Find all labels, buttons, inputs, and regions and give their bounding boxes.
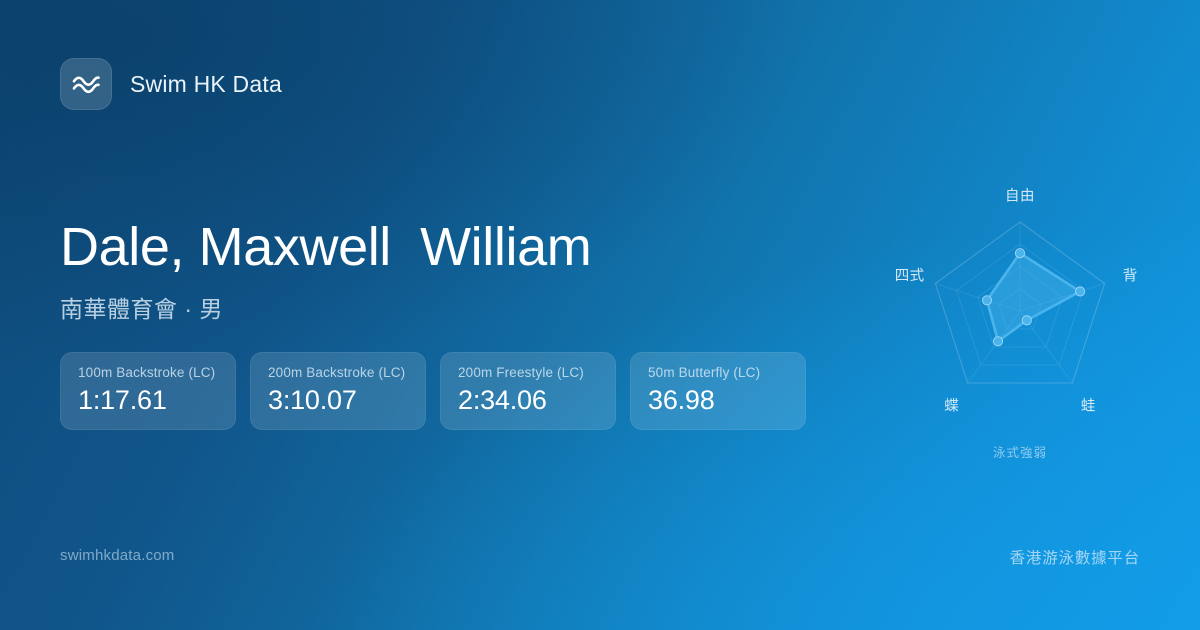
- stat-card-label: 200m Backstroke (LC): [268, 365, 408, 380]
- wave-approx-icon: [60, 58, 112, 110]
- stat-card-label: 50m Butterfly (LC): [648, 365, 788, 380]
- stat-card-value: 1:17.61: [78, 385, 218, 416]
- stat-card[interactable]: 100m Backstroke (LC) 1:17.61: [60, 352, 236, 430]
- stat-card-value: 3:10.07: [268, 385, 408, 416]
- stat-card-list: 100m Backstroke (LC) 1:17.61 200m Backst…: [60, 352, 806, 430]
- athlete-meta: 南華體育會 · 男: [60, 290, 591, 324]
- card-content: Swim HK Data Dale, Maxwell William 南華體育會…: [0, 0, 1200, 630]
- radar-axis-label-2: 蛙: [1081, 394, 1096, 415]
- stat-card[interactable]: 200m Freestyle (LC) 2:34.06: [440, 352, 616, 430]
- stat-card-value: 2:34.06: [458, 385, 598, 416]
- hero-block: Dale, Maxwell William 南華體育會 · 男: [60, 218, 591, 324]
- footer-site-url[interactable]: swimhkdata.com: [60, 547, 175, 564]
- radar-axis-label-0: 自由: [1005, 185, 1035, 206]
- brand-lockup[interactable]: Swim HK Data: [60, 58, 282, 110]
- stat-card-label: 100m Backstroke (LC): [78, 365, 218, 380]
- stat-card-label: 200m Freestyle (LC): [458, 365, 598, 380]
- footer-tagline: 香港游泳數據平台: [1010, 546, 1140, 568]
- share-card: Swim HK Data Dale, Maxwell William 南華體育會…: [0, 0, 1200, 630]
- radar-axis-label-4: 四式: [895, 265, 925, 286]
- stat-card[interactable]: 200m Backstroke (LC) 3:10.07: [250, 352, 426, 430]
- radar-caption: 泳式強弱: [860, 442, 1180, 461]
- stat-card[interactable]: 50m Butterfly (LC) 36.98: [630, 352, 806, 430]
- radar-axis-label-3: 蝶: [944, 394, 959, 415]
- brand-name: Swim HK Data: [130, 71, 282, 98]
- radar-svg: [860, 160, 1180, 470]
- stat-card-value: 36.98: [648, 385, 788, 416]
- page-title: Dale, Maxwell William: [60, 218, 591, 276]
- stroke-strength-radar-chart: 自由背蛙蝶四式 泳式強弱: [860, 160, 1180, 470]
- radar-axis-label-1: 背: [1123, 265, 1138, 286]
